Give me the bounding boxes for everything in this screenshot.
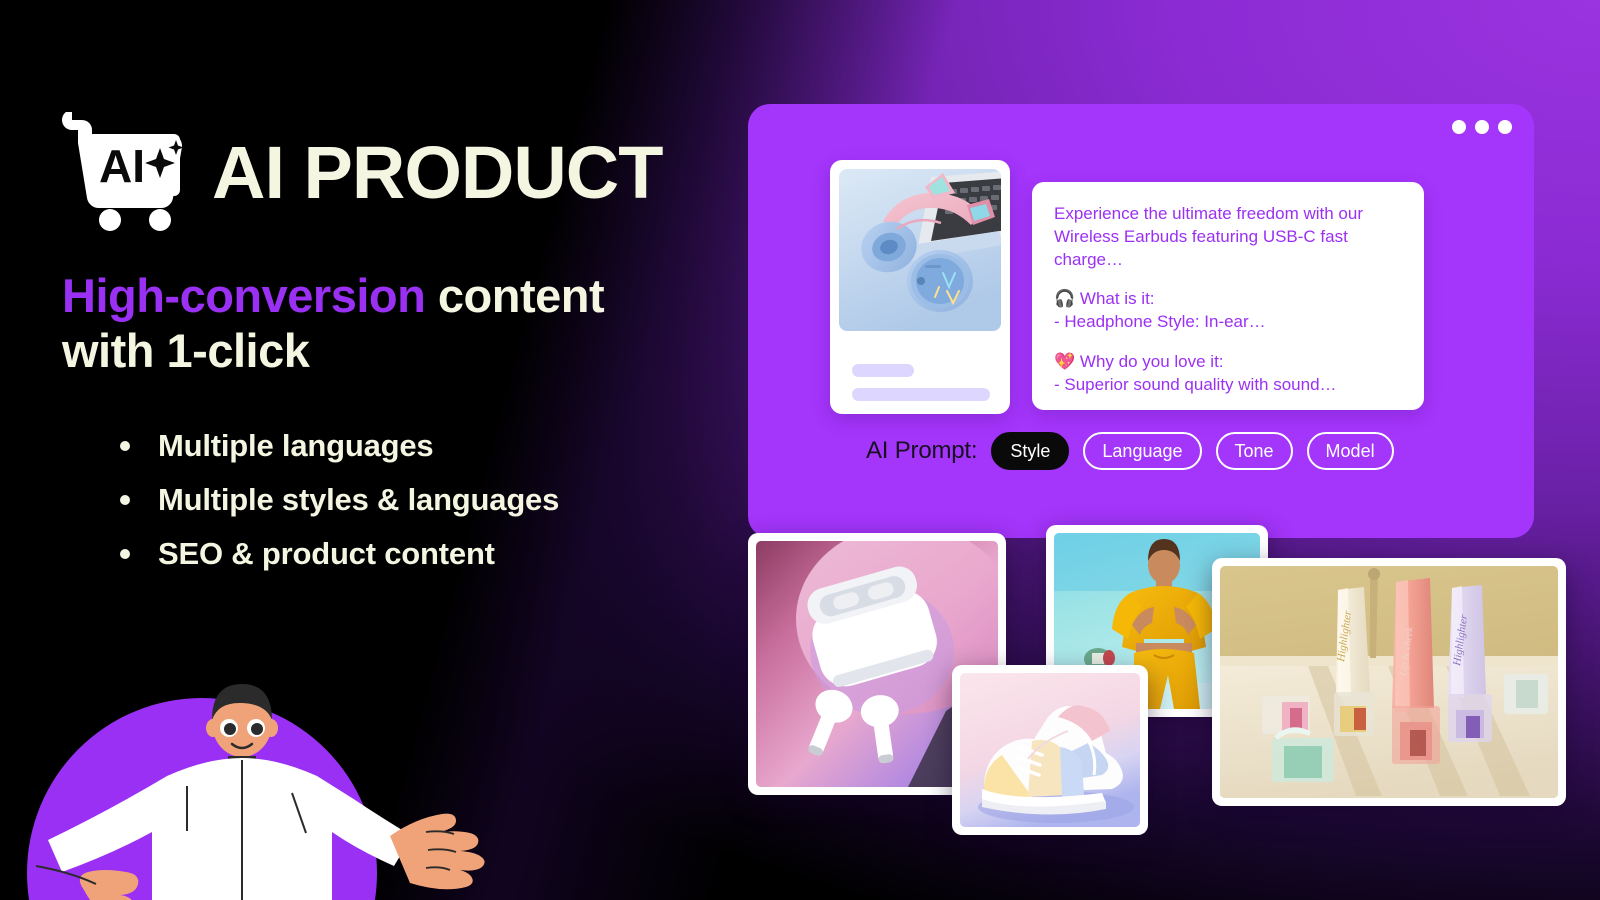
generated-section-2-title: Why do you love it: — [1080, 352, 1224, 371]
brand-lockup: AI AI PRODUCT — [62, 112, 662, 234]
generated-section-2-heading: 💖 Why do you love it: — [1054, 350, 1402, 373]
mascot-illustration — [0, 628, 592, 900]
feature-list: Multiple languages Multiple styles & lan… — [98, 430, 698, 592]
generated-section-1-title: What is it: — [1080, 289, 1155, 308]
generated-section-1-bullet: - Headphone Style: In-ear… — [1054, 310, 1402, 333]
headline-line2: with 1-click — [62, 324, 309, 377]
ai-shopping-cart-icon: AI — [62, 112, 190, 234]
spacer — [1054, 334, 1402, 350]
brand-name: AI PRODUCT — [212, 136, 662, 210]
prompt-option-language[interactable]: Language — [1083, 432, 1201, 470]
generated-section-2-bullet: - Superior sound quality with sound… — [1054, 373, 1402, 396]
headline-rest: content — [425, 269, 604, 322]
product-skeleton-line-2 — [852, 388, 990, 401]
photo-sneaker[interactable] — [952, 665, 1148, 835]
prompt-option-style[interactable]: Style — [991, 432, 1069, 470]
svg-text:AI: AI — [99, 140, 145, 192]
page-headline: High-conversion content with 1-click — [62, 268, 682, 379]
window-dot-2[interactable] — [1475, 120, 1489, 134]
window-dot-3[interactable] — [1498, 120, 1512, 134]
ai-prompt-label: AI Prompt: — [866, 437, 977, 465]
sparkling-heart-emoji-icon: 💖 — [1054, 352, 1075, 371]
list-item: Multiple languages — [98, 430, 698, 461]
product-skeleton-line-1 — [852, 364, 914, 377]
product-image-headphones — [839, 169, 1001, 331]
generated-text-card[interactable]: Experience the ultimate freedom with our… — [1032, 182, 1424, 410]
window-dot-1[interactable] — [1452, 120, 1466, 134]
product-photo-collage: Highlighter Lip & cheek — [740, 525, 1600, 900]
generated-intro: Experience the ultimate freedom with our… — [1054, 202, 1402, 271]
headphone-emoji-icon: 🎧 — [1054, 289, 1075, 308]
left-content-column: AI AI PRODUCT High-conversion content wi… — [62, 0, 702, 900]
window-controls[interactable] — [1452, 120, 1512, 134]
spacer — [1054, 271, 1402, 287]
app-preview-panel: Experience the ultimate freedom with our… — [748, 104, 1534, 538]
prompt-option-tone[interactable]: Tone — [1216, 432, 1293, 470]
headline-accent: High-conversion — [62, 269, 425, 322]
poster-canvas: AI AI PRODUCT High-conversion content wi… — [0, 0, 1600, 900]
ai-prompt-row: AI Prompt: Style Language Tone Model — [866, 432, 1394, 470]
product-card[interactable] — [830, 160, 1010, 414]
list-item: SEO & product content — [98, 538, 698, 569]
prompt-option-model[interactable]: Model — [1307, 432, 1394, 470]
photo-cosmetics[interactable]: Highlighter Lip & cheek — [1212, 558, 1566, 806]
list-item: Multiple styles & languages — [98, 484, 698, 515]
generated-section-1-heading: 🎧 What is it: — [1054, 287, 1402, 310]
